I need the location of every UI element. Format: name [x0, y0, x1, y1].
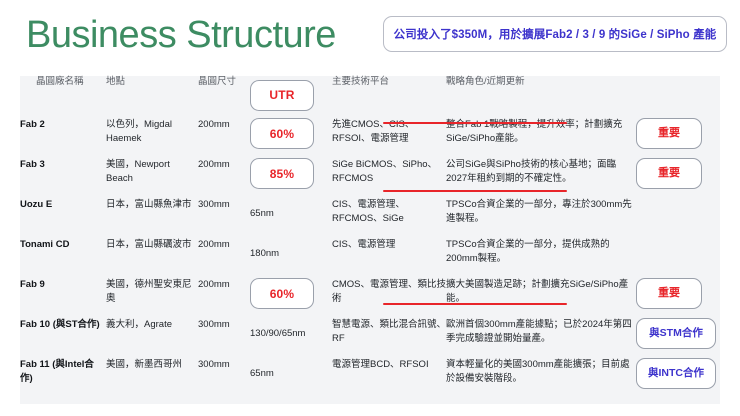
- cell-wafer-size: 300mm: [198, 358, 250, 398]
- cell-location: 日本，富山縣魚津市: [106, 198, 198, 238]
- investment-callout: 公司投入了$350M，用於擴展Fab2 / 3 / 9 的SiGe / SiPh…: [383, 16, 727, 52]
- cell-wafer-size: 300mm: [198, 318, 250, 358]
- utr-value-pill: 60%: [250, 118, 314, 149]
- slide-root: Business Structure 公司投入了$350M，用於擴展Fab2 /…: [0, 0, 740, 416]
- table-header-row: 晶圓廠名稱 地點 晶圓尺寸 UTR 主要技術平台 戰略角色/近期更新: [20, 76, 720, 118]
- cell-location: 日本，富山縣礪波市: [106, 238, 198, 278]
- cell-fab-name: Fab 11 (與Intel合作): [20, 358, 106, 398]
- cell-strategic-role: 整合Fab 1戰略製程，提升效率；計劃擴充SiGe/SiPho產能。: [446, 118, 636, 158]
- cell-badge: 重要: [636, 158, 720, 198]
- cell-strategic-role: 擴大美國製造足跡；計劃擴充SiGe/SiPho產能。: [446, 278, 636, 318]
- table-row: Fab 3美國，Newport Beach200mm85%SiGe BiCMOS…: [20, 158, 720, 198]
- cell-strategic-role: TPSCo合資企業的一部分，提供成熟的200mm製程。: [446, 238, 636, 278]
- cell-utr: 65nm: [250, 198, 332, 238]
- cell-utr: 60%: [250, 118, 332, 158]
- cell-wafer-size: 200mm: [198, 238, 250, 278]
- cell-badge: 重要: [636, 118, 720, 158]
- cell-strategic-role: 公司SiGe與SiPho技術的核心基地；面臨2027年租約到期的不確定性。: [446, 158, 636, 198]
- cell-process-node: 130/90/65nm: [250, 328, 305, 339]
- page-title: Business Structure: [26, 14, 336, 57]
- cell-badge: 重要: [636, 278, 720, 318]
- cell-utr: 180nm: [250, 238, 332, 278]
- cell-location: 美國，新墨西哥州: [106, 358, 198, 398]
- cell-utr: 130/90/65nm: [250, 318, 332, 358]
- column-header-tech: 主要技術平台: [332, 76, 446, 118]
- cell-fab-name: Fab 10 (與ST合作): [20, 318, 106, 358]
- utr-value-pill: 60%: [250, 278, 314, 309]
- cell-location: 美國，Newport Beach: [106, 158, 198, 198]
- column-header-name: 晶圓廠名稱: [20, 76, 106, 118]
- cell-badge: 與INTC合作: [636, 358, 720, 398]
- cell-strategic-role: 歐洲首個300mm產能據點；已於2024年第四季完成驗證並開始量產。: [446, 318, 636, 358]
- cell-wafer-size: 300mm: [198, 198, 250, 238]
- cell-technology: CIS、電源管理: [332, 238, 446, 278]
- cell-fab-name: Fab 2: [20, 118, 106, 158]
- column-header-badge: [636, 76, 720, 118]
- table-row: Fab 2以色列，Migdal Haemek200mm60%先進CMOS、CIS…: [20, 118, 720, 158]
- cell-technology: SiGe BiCMOS、SiPho、RFCMOS: [332, 158, 446, 198]
- cell-strategic-role: 資本輕量化的美國300mm產能擴張；目前處於設備安裝階段。: [446, 358, 636, 398]
- table-row: Uozu E日本，富山縣魚津市300mm65nmCIS、電源管理、RFCMOS、…: [20, 198, 720, 238]
- table-row: Fab 11 (與Intel合作)美國，新墨西哥州300mm65nm電源管理BC…: [20, 358, 720, 398]
- important-badge: 重要: [636, 278, 702, 309]
- cell-technology: 智慧電源、類比混合訊號、RF: [332, 318, 446, 358]
- cell-wafer-size: 200mm: [198, 158, 250, 198]
- table-row: Fab 10 (與ST合作)義大利，Agrate300mm130/90/65nm…: [20, 318, 720, 358]
- cell-badge: [636, 198, 720, 238]
- important-badge: 重要: [636, 158, 702, 189]
- cell-process-node: 180nm: [250, 248, 279, 259]
- cell-location: 以色列，Migdal Haemek: [106, 118, 198, 158]
- cell-technology: CIS、電源管理、RFCMOS、SiGe: [332, 198, 446, 238]
- fab-table-body: Fab 2以色列，Migdal Haemek200mm60%先進CMOS、CIS…: [20, 118, 720, 398]
- cell-badge: [636, 238, 720, 278]
- column-header-size: 晶圓尺寸: [198, 76, 250, 118]
- important-badge: 重要: [636, 118, 702, 149]
- cell-fab-name: Tonami CD: [20, 238, 106, 278]
- cell-strategic-role: TPSCo合資企業的一部分，專注於300mm先進製程。: [446, 198, 636, 238]
- investment-callout-text: 公司投入了$350M，用於擴展Fab2 / 3 / 9 的SiGe / SiPh…: [394, 26, 717, 42]
- column-header-utr: UTR: [250, 76, 332, 118]
- utr-pill: UTR: [250, 80, 314, 111]
- cell-technology: 先進CMOS、CIS、RFSOI、電源管理: [332, 118, 446, 158]
- fab-table-head: 晶圓廠名稱 地點 晶圓尺寸 UTR 主要技術平台 戰略角色/近期更新: [20, 76, 720, 118]
- cell-utr: 60%: [250, 278, 332, 318]
- cell-wafer-size: 200mm: [198, 278, 250, 318]
- cell-location: 義大利，Agrate: [106, 318, 198, 358]
- cell-wafer-size: 200mm: [198, 118, 250, 158]
- table-row: Tonami CD日本，富山縣礪波市200mm180nmCIS、電源管理TPSC…: [20, 238, 720, 278]
- cell-location: 美國，德州聖安東尼奧: [106, 278, 198, 318]
- cell-process-node: 65nm: [250, 368, 274, 379]
- column-header-role: 戰略角色/近期更新: [446, 76, 636, 118]
- highlight-underline-2: [383, 190, 567, 192]
- cell-fab-name: Fab 9: [20, 278, 106, 318]
- partner-badge: 與STM合作: [636, 318, 716, 349]
- utr-value-pill: 85%: [250, 158, 314, 189]
- cell-fab-name: Fab 3: [20, 158, 106, 198]
- cell-technology: 電源管理BCD、RFSOI: [332, 358, 446, 398]
- cell-utr: 85%: [250, 158, 332, 198]
- cell-badge: 與STM合作: [636, 318, 720, 358]
- highlight-underline-3: [383, 303, 567, 305]
- cell-utr: 65nm: [250, 358, 332, 398]
- highlight-underline-1: [383, 122, 567, 124]
- cell-technology: CMOS、電源管理、類比技術: [332, 278, 446, 318]
- cell-process-node: 65nm: [250, 208, 274, 219]
- fab-table-container: 晶圓廠名稱 地點 晶圓尺寸 UTR 主要技術平台 戰略角色/近期更新 Fab 2…: [20, 76, 720, 404]
- fab-table: 晶圓廠名稱 地點 晶圓尺寸 UTR 主要技術平台 戰略角色/近期更新 Fab 2…: [20, 76, 720, 398]
- table-row: Fab 9美國，德州聖安東尼奧200mm60%CMOS、電源管理、類比技術擴大美…: [20, 278, 720, 318]
- partner-badge: 與INTC合作: [636, 358, 716, 389]
- column-header-location: 地點: [106, 76, 198, 118]
- cell-fab-name: Uozu E: [20, 198, 106, 238]
